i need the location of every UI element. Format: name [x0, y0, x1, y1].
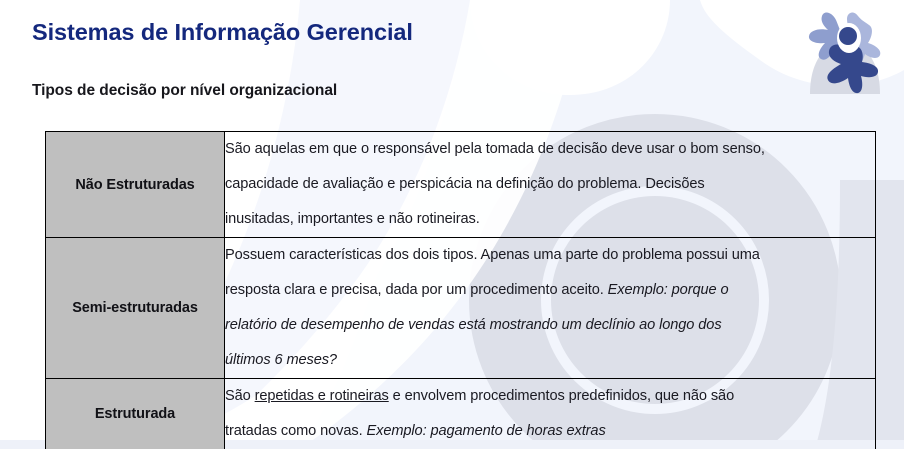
description-line: São repetidas e rotineiras e envolvem pr… — [225, 379, 875, 414]
text-run: capacidade de avaliação e perspicácia na… — [225, 176, 705, 192]
three-stars-people-logo-icon — [792, 2, 896, 94]
page-subtitle: Tipos de decisão por nível organizaciona… — [32, 82, 337, 100]
text-run-italic: Exemplo: pagamento de horas extras — [366, 423, 605, 439]
row-description-nao-estruturadas: São aquelas em que o responsável pela to… — [225, 132, 876, 238]
description-line: Possuem características dos dois tipos. … — [225, 238, 875, 273]
row-description-semi-estruturadas: Possuem características dos dois tipos. … — [225, 238, 876, 379]
slide-canvas: Sistemas de Informação Gerencial Tipos d… — [0, 0, 904, 449]
decision-types-table: Não Estruturadas São aquelas em que o re… — [45, 131, 876, 449]
text-run-underline: repetidas e rotineiras — [255, 388, 389, 404]
text-run: Possuem características dos dois tipos. … — [225, 247, 760, 263]
description-line: relatório de desempenho de vendas está m… — [225, 308, 875, 343]
text-run-italic: últimos 6 meses? — [225, 352, 337, 368]
description-line: últimos 6 meses? — [225, 343, 875, 378]
description-line: tratadas como novas. Exemplo: pagamento … — [225, 414, 875, 449]
text-run: inusitadas, importantes e não rotineiras… — [225, 211, 480, 227]
description-line: São aquelas em que o responsável pela to… — [225, 132, 875, 167]
row-label-nao-estruturadas: Não Estruturadas — [46, 132, 225, 238]
table-row: Não Estruturadas São aquelas em que o re… — [46, 132, 876, 238]
text-run: São — [225, 388, 255, 404]
page-title: Sistemas de Informação Gerencial — [32, 19, 413, 46]
table-body: Não Estruturadas São aquelas em que o re… — [46, 132, 876, 449]
row-label-semi-estruturadas: Semi-estruturadas — [46, 238, 225, 379]
text-run: e envolvem procedimentos predefinidos, q… — [389, 388, 734, 404]
text-run: tratadas como novas. — [225, 423, 366, 439]
text-run-italic: relatório de desempenho de vendas está m… — [225, 317, 722, 333]
description-line: resposta clara e precisa, dada por um pr… — [225, 273, 875, 308]
row-description-estruturada: São repetidas e rotineiras e envolvem pr… — [225, 379, 876, 449]
description-line: capacidade de avaliação e perspicácia na… — [225, 167, 875, 202]
table-row: Semi-estruturadas Possuem característica… — [46, 238, 876, 379]
row-label-estruturada: Estruturada — [46, 379, 225, 449]
text-run-italic: Exemplo: porque o — [608, 282, 729, 298]
slide-header: Sistemas de Informação Gerencial Tipos d… — [0, 0, 904, 120]
text-run: resposta clara e precisa, dada por um pr… — [225, 282, 608, 298]
text-run: São aquelas em que o responsável pela to… — [225, 141, 765, 157]
description-line: inusitadas, importantes e não rotineiras… — [225, 202, 875, 237]
table-row: Estruturada São repetidas e rotineiras e… — [46, 379, 876, 449]
